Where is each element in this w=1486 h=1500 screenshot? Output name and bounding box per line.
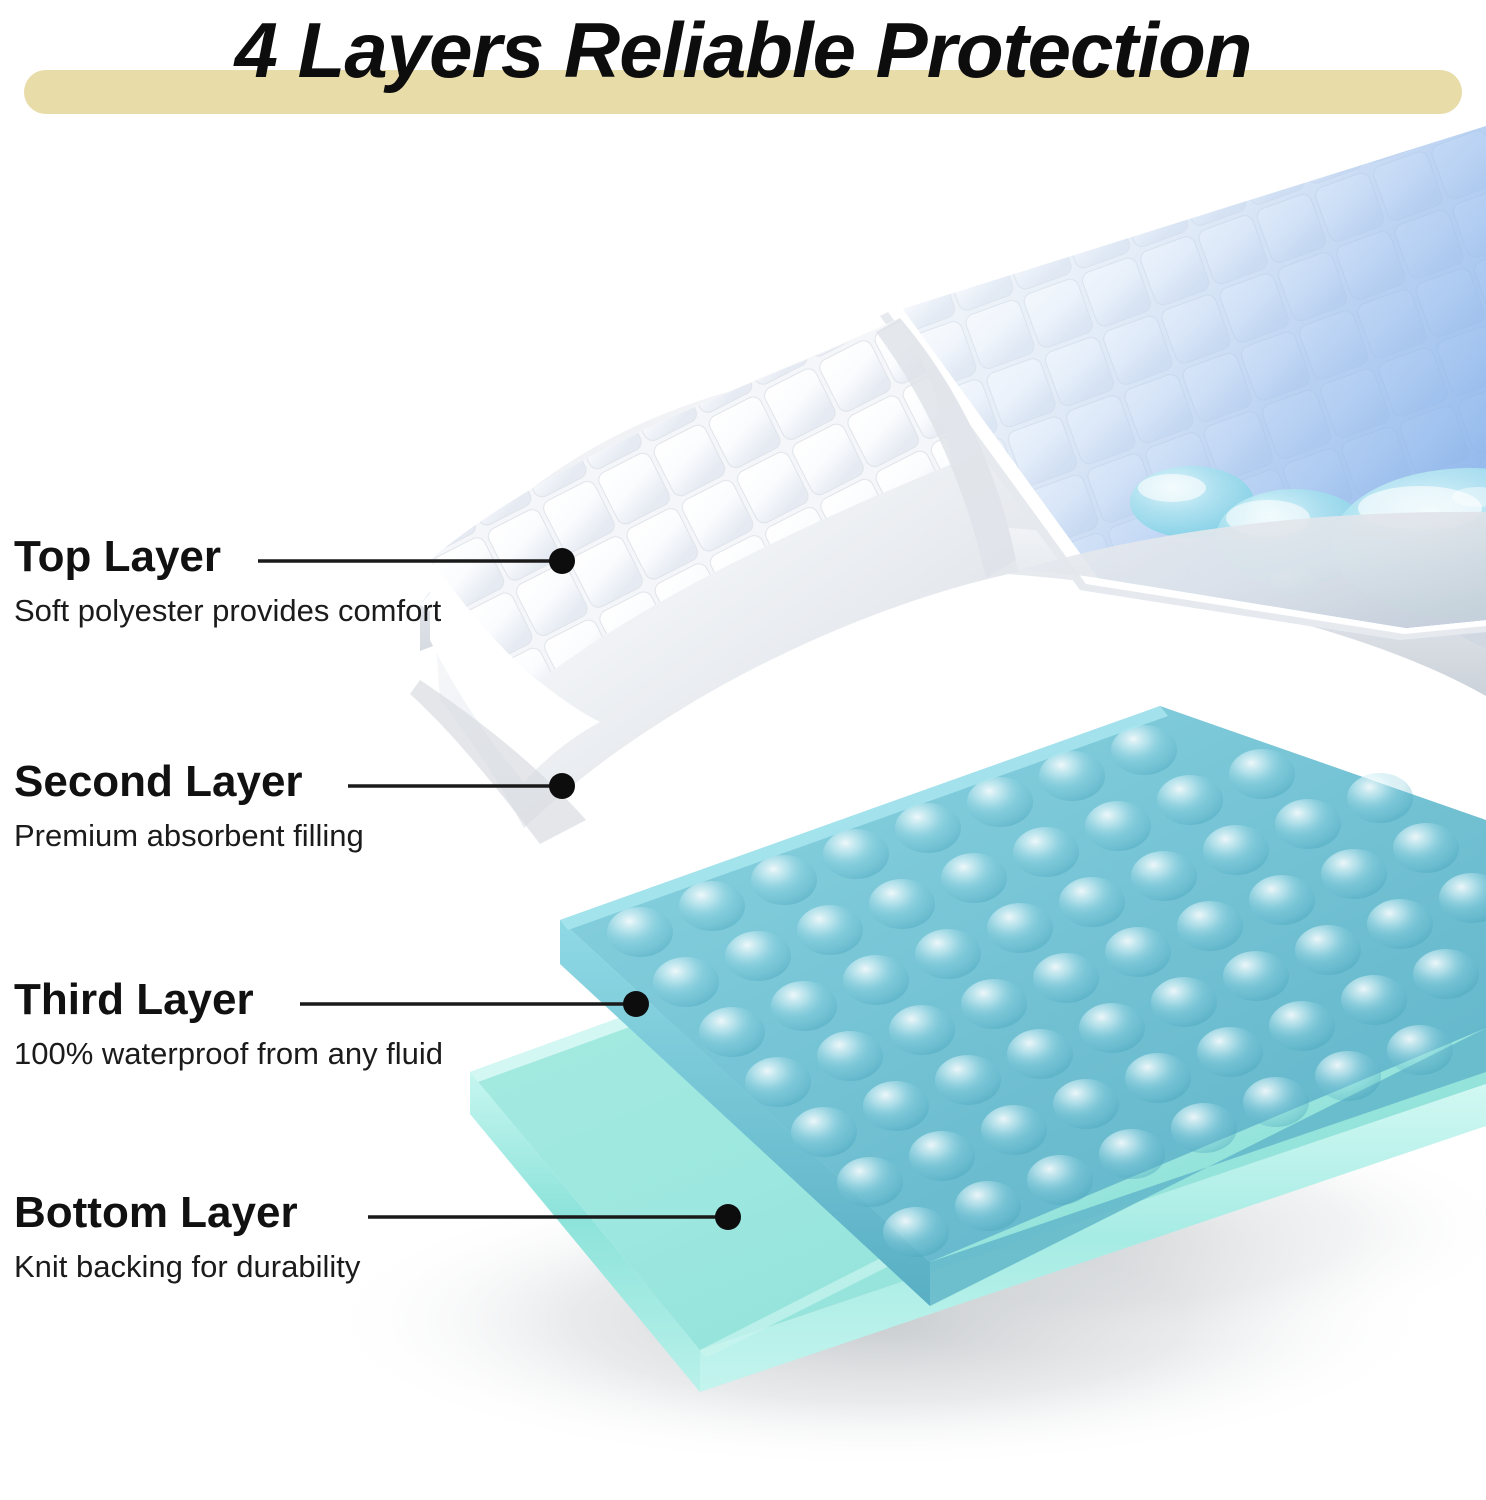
page-title: 4 Layers Reliable Protection: [0, 0, 1486, 100]
layer-label-top: Top Layer Soft polyester provides comfor…: [14, 532, 441, 631]
product-layers-illustration: Top Layer Soft polyester provides comfor…: [0, 120, 1486, 1500]
layer-description-second: Premium absorbent filling: [14, 816, 364, 856]
layer-title-top: Top Layer: [14, 532, 441, 582]
layer-description-third: 100% waterproof from any fluid: [14, 1034, 443, 1074]
layer-title-second: Second Layer: [14, 757, 364, 807]
layer-title-third: Third Layer: [14, 975, 443, 1025]
layer-description-top: Soft polyester provides comfort: [14, 591, 441, 631]
leader-line-bottom-layer: [368, 1204, 744, 1230]
layer-label-third: Third Layer 100% waterproof from any flu…: [14, 975, 443, 1074]
page-title-block: 4 Layers Reliable Protection: [0, 0, 1486, 120]
layer-title-bottom: Bottom Layer: [14, 1188, 360, 1238]
layer-label-bottom: Bottom Layer Knit backing for durability: [14, 1188, 360, 1287]
layer-description-bottom: Knit backing for durability: [14, 1247, 360, 1287]
layer-label-second: Second Layer Premium absorbent filling: [14, 757, 364, 856]
leader-line-second-layer: [348, 773, 578, 799]
infographic-page: 4 Layers Reliable Protection: [0, 0, 1486, 1500]
